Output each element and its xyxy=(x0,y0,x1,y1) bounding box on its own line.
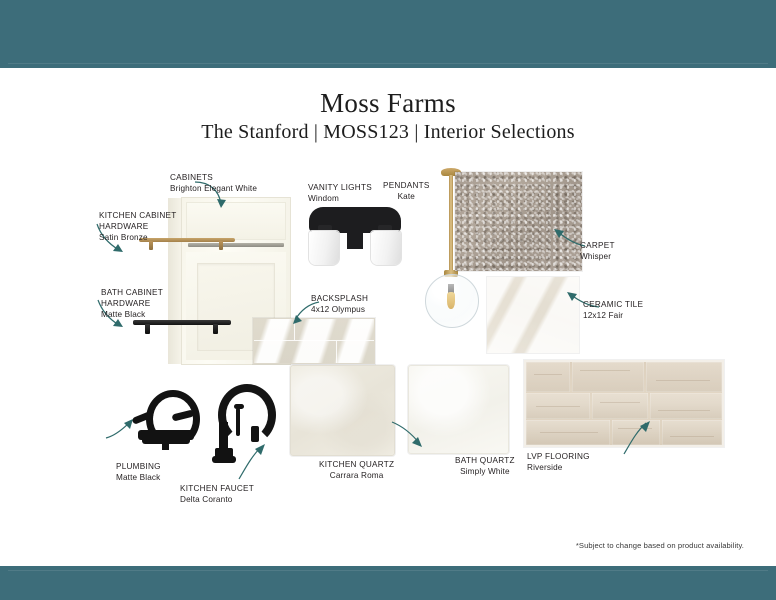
label-plumbing-value: Matte Black xyxy=(116,472,161,483)
kitchen-faucet-image xyxy=(206,382,268,468)
label-vanity-lights-value: Windom xyxy=(308,193,372,204)
lvp-flooring-swatch xyxy=(524,360,724,447)
label-kitchen-faucet-category: KITCHEN FAUCET xyxy=(180,483,254,494)
label-kitchen-cabinet-hardware-value: Satin Bronze xyxy=(99,232,176,243)
label-backsplash: BACKSPLASH 4x12 Olympus xyxy=(311,293,368,315)
disclaimer-text: *Subject to change based on product avai… xyxy=(576,541,744,550)
label-pendants: PENDANTS Kate xyxy=(383,180,430,202)
label-kitchen-cabinet-hardware: KITCHEN CABINET HARDWARE Satin Bronze xyxy=(99,210,176,243)
footer-band xyxy=(0,566,776,600)
label-plumbing-category: PLUMBING xyxy=(116,461,161,472)
label-lvp-flooring-value: Riverside xyxy=(527,462,590,473)
label-bath-cabinet-hardware: BATH CABINET HARDWARE Matte Black xyxy=(101,287,163,320)
label-kitchen-cabinet-hardware-category2: HARDWARE xyxy=(99,221,176,232)
label-backsplash-category: BACKSPLASH xyxy=(311,293,368,304)
label-bath-quartz-category: BATH QUARTZ xyxy=(455,455,515,466)
label-carpet: CARPET Whisper xyxy=(580,240,615,262)
label-cabinets: CABINETS Brighton Elegant White xyxy=(170,172,257,194)
backsplash-swatch xyxy=(253,318,375,364)
label-cabinets-value: Brighton Elegant White xyxy=(170,183,257,194)
label-kitchen-quartz-category: KITCHEN QUARTZ xyxy=(319,459,394,470)
bath-quartz-swatch xyxy=(408,365,509,454)
bath-faucet-image xyxy=(124,386,198,452)
page-subtitle: The Stanford | MOSS123 | Interior Select… xyxy=(0,121,776,144)
label-cabinets-category: CABINETS xyxy=(170,172,257,183)
label-bath-cabinet-hardware-category: BATH CABINET xyxy=(101,287,163,298)
label-ceramic-tile-category: CERAMIC TILE xyxy=(583,299,643,310)
ceramic-tile-swatch xyxy=(487,277,579,353)
label-carpet-category: CARPET xyxy=(580,240,615,251)
label-ceramic-tile: CERAMIC TILE 12x12 Fair xyxy=(583,299,643,321)
label-vanity-lights-category: VANITY LIGHTS xyxy=(308,182,372,193)
label-vanity-lights: VANITY LIGHTS Windom xyxy=(308,182,372,204)
label-backsplash-value: 4x12 Olympus xyxy=(311,304,368,315)
page-title: Moss Farms xyxy=(0,88,776,119)
label-pendants-category: PENDANTS xyxy=(383,180,430,191)
kitchen-quartz-swatch xyxy=(290,365,395,456)
label-carpet-value: Whisper xyxy=(580,251,615,262)
label-kitchen-cabinet-hardware-category: KITCHEN CABINET xyxy=(99,210,176,221)
label-bath-cabinet-hardware-value: Matte Black xyxy=(101,309,163,320)
selections-board: Moss Farms The Stanford | MOSS123 | Inte… xyxy=(0,0,776,600)
label-lvp-flooring: LVP FLOORING Riverside xyxy=(527,451,590,473)
label-ceramic-tile-value: 12x12 Fair xyxy=(583,310,643,321)
carpet-swatch xyxy=(455,172,582,271)
label-bath-quartz: BATH QUARTZ Simply White xyxy=(455,455,515,477)
header-band xyxy=(0,0,776,68)
label-pendants-value: Kate xyxy=(383,191,430,202)
label-bath-cabinet-hardware-category2: HARDWARE xyxy=(101,298,163,309)
label-lvp-flooring-category: LVP FLOORING xyxy=(527,451,590,462)
label-kitchen-faucet: KITCHEN FAUCET Delta Coranto xyxy=(180,483,254,505)
label-kitchen-faucet-value: Delta Coranto xyxy=(180,494,254,505)
label-kitchen-quartz-value: Carrara Roma xyxy=(319,470,394,481)
label-bath-quartz-value: Simply White xyxy=(455,466,515,477)
vanity-light-image xyxy=(303,207,407,267)
label-plumbing: PLUMBING Matte Black xyxy=(116,461,161,483)
label-kitchen-quartz: KITCHEN QUARTZ Carrara Roma xyxy=(319,459,394,481)
bath-cabinet-hardware-image xyxy=(133,318,231,334)
